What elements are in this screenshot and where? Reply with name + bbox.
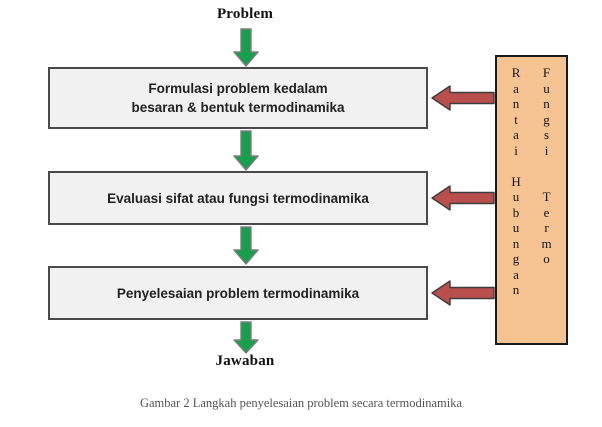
feedback-arrow-2 <box>430 183 496 213</box>
feedback-arrow-3 <box>430 278 496 308</box>
thermodynamics-flow-diagram: Problem Formulasi problem kedalam besara… <box>0 0 602 427</box>
flow-arrow-down-1 <box>232 28 260 68</box>
vertical-letter: o <box>543 251 550 267</box>
vertical-letter: g <box>543 112 550 128</box>
diagram-start-label: Problem <box>165 6 325 23</box>
vertical-letter: m <box>541 236 551 252</box>
vertical-letter: n <box>513 282 520 298</box>
vertical-letter: u <box>513 189 520 205</box>
vertical-letter: u <box>543 81 550 97</box>
vertical-letter: n <box>513 236 520 252</box>
vertical-letter: a <box>513 267 519 283</box>
side-panel-vertical-labels: Rantai Hubungan Fungsi Termo <box>495 55 568 345</box>
vertical-letter: a <box>513 127 519 143</box>
vertical-letter: R <box>512 65 521 81</box>
vertical-letter: n <box>543 96 550 112</box>
process-box-evaluasi: Evaluasi sifat atau fungsi termodinamika <box>48 171 428 225</box>
process-box-penyelesaian: Penyelesaian problem termodinamika <box>48 266 428 320</box>
vertical-letter-space <box>545 158 548 174</box>
side-panel-column-rantai-hubungan: Rantai Hubungan <box>511 63 520 339</box>
vertical-letter: e <box>544 205 550 221</box>
vertical-letter-space <box>514 158 517 174</box>
vertical-letter: F <box>543 65 550 81</box>
vertical-letter: s <box>544 127 549 143</box>
flow-arrow-down-2 <box>232 130 260 172</box>
process-box-label: Formulasi problem kedalam besaran & bent… <box>121 79 354 117</box>
vertical-letter: r <box>544 220 548 236</box>
vertical-letter: g <box>513 251 520 267</box>
diagram-end-label: Jawaban <box>165 353 325 370</box>
vertical-letter: t <box>514 112 518 128</box>
flow-arrow-down-4 <box>232 321 260 355</box>
vertical-letter: i <box>514 143 518 159</box>
vertical-letter-space <box>545 174 548 190</box>
side-panel-column-fungsi-termo: Fungsi Termo <box>541 63 551 339</box>
process-box-label: Evaluasi sifat atau fungsi termodinamika <box>97 189 379 208</box>
vertical-letter: T <box>543 189 551 205</box>
vertical-letter: H <box>511 174 520 190</box>
vertical-letter: b <box>513 205 520 221</box>
process-box-formulasi: Formulasi problem kedalam besaran & bent… <box>48 67 428 129</box>
vertical-letter: u <box>513 220 520 236</box>
feedback-arrow-1 <box>430 83 496 113</box>
process-box-label: Penyelesaian problem termodinamika <box>107 284 369 303</box>
figure-caption: Gambar 2 Langkah penyelesaian problem se… <box>0 396 602 411</box>
flow-arrow-down-3 <box>232 226 260 266</box>
vertical-letter: n <box>513 96 520 112</box>
vertical-letter: a <box>513 81 519 97</box>
vertical-letter: i <box>545 143 549 159</box>
